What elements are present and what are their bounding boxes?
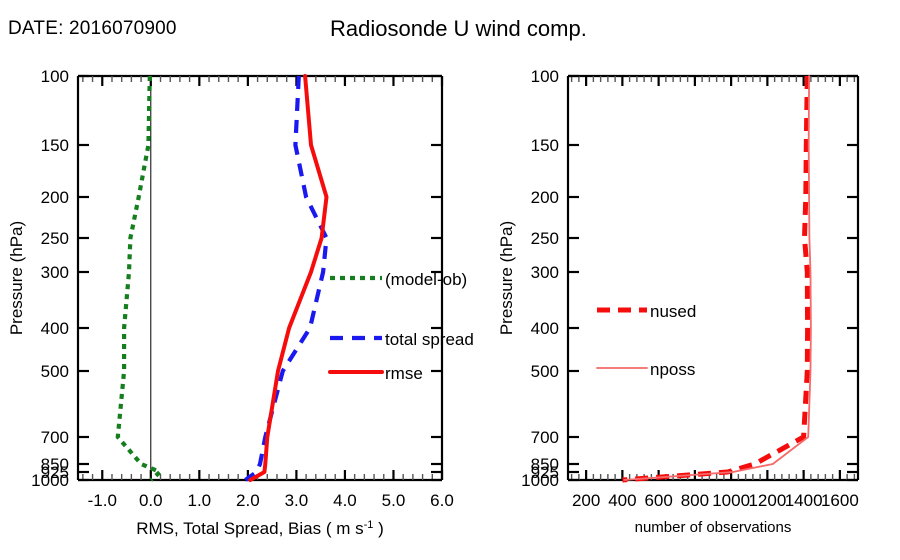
- x-tick-label: 1400: [785, 491, 823, 510]
- y-tick-label: 1000: [521, 471, 559, 490]
- x-axis-title: RMS, Total Spread, Bias ( m s-1 ): [136, 519, 384, 538]
- y-tick-label: 700: [41, 428, 69, 447]
- x-tick-label: 600: [644, 491, 672, 510]
- y-tick-label: 400: [41, 319, 69, 338]
- x-tick-label: 1000: [712, 491, 750, 510]
- legend-label-nused: nused: [650, 302, 696, 321]
- x-tick-label: 1.0: [188, 491, 212, 510]
- y-tick-label: 500: [41, 362, 69, 381]
- series-rmse: [250, 76, 326, 480]
- x-tick-label: 1600: [821, 491, 859, 510]
- x-tick-label: 1200: [748, 491, 786, 510]
- y-tick-label: 1000: [31, 471, 69, 490]
- x-tick-label: 4.0: [333, 491, 357, 510]
- x-tick-label: -1.0: [88, 491, 117, 510]
- stats-panel: -1.00.01.02.03.04.05.06.0100150200250300…: [7, 67, 474, 538]
- y-axis-title: Pressure (hPa): [497, 221, 516, 335]
- legend-label-total-spread: total spread: [385, 330, 474, 349]
- x-axis-title: number of observations: [635, 519, 792, 536]
- legend-label--model-ob-: (model-ob): [385, 270, 467, 289]
- x-tick-label: 0.0: [139, 491, 163, 510]
- y-axis-title: Pressure (hPa): [7, 221, 26, 335]
- chart-page: DATE: 2016070900 Radiosonde U wind comp.…: [0, 0, 900, 560]
- legend-label-rmse: rmse: [385, 364, 423, 383]
- y-tick-label: 150: [531, 136, 559, 155]
- y-tick-label: 400: [531, 319, 559, 338]
- y-tick-label: 250: [531, 229, 559, 248]
- y-tick-label: 150: [41, 136, 69, 155]
- series-nused: [622, 76, 807, 480]
- y-tick-label: 250: [41, 229, 69, 248]
- x-tick-label: 200: [572, 491, 600, 510]
- y-tick-label: 300: [41, 263, 69, 282]
- y-tick-label: 200: [531, 188, 559, 207]
- date-label: DATE: 2016070900: [8, 18, 177, 40]
- x-tick-label: 5.0: [382, 491, 406, 510]
- plot-canvas: -1.00.01.02.03.04.05.06.0100150200250300…: [0, 0, 900, 560]
- legend-label-nposs: nposs: [650, 360, 695, 379]
- y-tick-label: 700: [531, 428, 559, 447]
- series-total-spread: [245, 76, 326, 480]
- series-nposs: [624, 76, 811, 480]
- page-title: Radiosonde U wind comp.: [330, 16, 587, 42]
- x-tick-label: 3.0: [285, 491, 309, 510]
- series--model-ob-: [118, 76, 160, 480]
- x-tick-label: 400: [608, 491, 636, 510]
- y-tick-label: 500: [531, 362, 559, 381]
- x-tick-label: 6.0: [430, 491, 454, 510]
- x-tick-label: 800: [681, 491, 709, 510]
- y-tick-label: 100: [531, 67, 559, 86]
- counts-panel: 2004006008001000120014001600100150200250…: [497, 67, 859, 536]
- plot-frame: [568, 76, 858, 480]
- y-tick-label: 300: [531, 263, 559, 282]
- y-tick-label: 200: [41, 188, 69, 207]
- x-tick-label: 2.0: [236, 491, 260, 510]
- y-tick-label: 100: [41, 67, 69, 86]
